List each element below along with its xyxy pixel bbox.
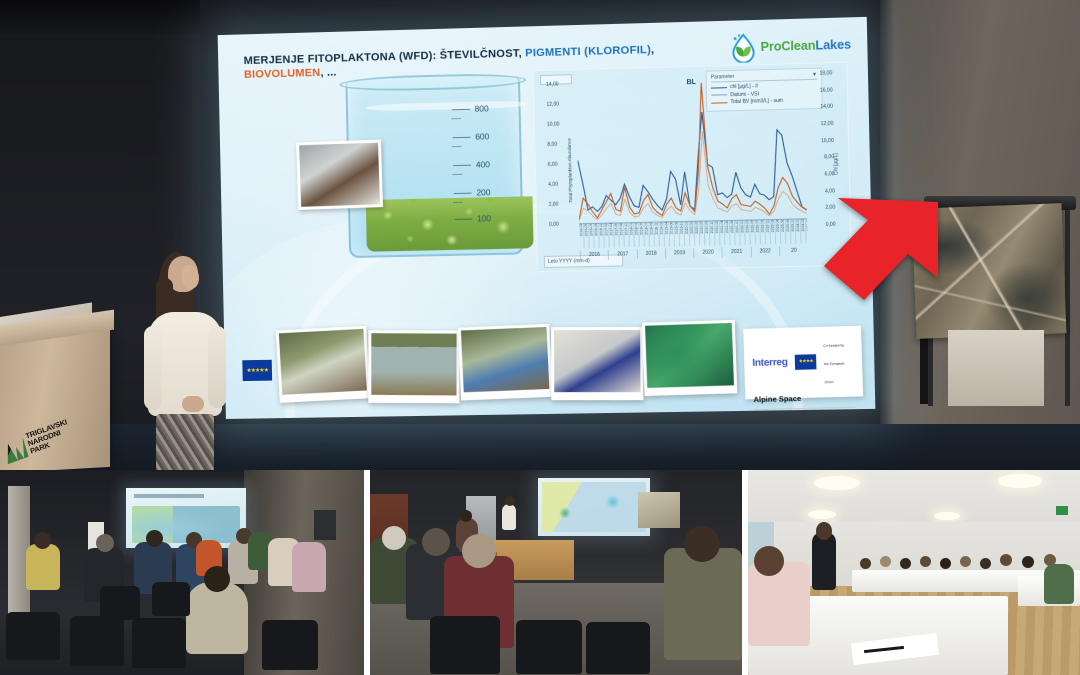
exit-sign-icon — [1056, 506, 1068, 515]
filter-icon[interactable]: ▼ — [812, 72, 817, 78]
ceiling-lamp — [934, 512, 960, 520]
foreground-attendee-head — [204, 566, 230, 592]
equipment-stand — [314, 510, 336, 540]
bottom-photo-audience — [0, 470, 364, 675]
y-tick: 12,00 — [546, 102, 559, 108]
logo-text-proclean: ProClean — [760, 38, 815, 54]
graduation-200: 200 — [453, 187, 490, 198]
flipchart-paper — [948, 330, 1044, 406]
attendee-head — [462, 534, 496, 568]
attendee-torso — [292, 542, 326, 592]
y-tick: 10,00 — [547, 122, 560, 128]
attendee-torso — [1044, 564, 1074, 604]
attendee-head — [920, 556, 931, 567]
chair — [586, 622, 650, 674]
presenter — [138, 256, 230, 470]
ceiling-lamp — [998, 474, 1042, 488]
x-year-group: 2019 — [665, 248, 694, 259]
procleanlakes-wordmark: ProCleanLakes — [760, 37, 851, 54]
photo-collage: MERJENJE FITOPLAKTONA (WFD): ŠTEVILČNOST… — [0, 0, 1080, 675]
y-tick: 8,00 — [547, 142, 557, 148]
attendee-torso — [26, 544, 60, 590]
attendee-head — [960, 556, 971, 567]
attendee-head — [684, 526, 720, 562]
attendee-head — [1022, 556, 1034, 568]
attendee-torso — [664, 548, 742, 660]
mountain-icon — [1, 434, 29, 464]
chair — [516, 620, 582, 674]
algae-star-3: ✳ — [483, 196, 499, 209]
interreg-top-row: Interreg ★★★★ Co-funded by the European … — [752, 333, 855, 390]
red-arrow-annotation — [790, 196, 940, 306]
x-year-group: 2017 — [608, 249, 637, 260]
x-year-group: 2022 — [750, 246, 779, 257]
triglav-national-park-logo: TRIGLAVSKI NARODNI PARK — [0, 390, 112, 470]
attendee-head — [422, 528, 450, 556]
projection-screen — [538, 478, 650, 536]
title-segment-4: BIOVOLUMEN — [244, 67, 321, 81]
strip-photo-5 — [642, 320, 737, 396]
y2-tick: 8,00 — [824, 154, 834, 160]
water-drop-leaf-icon — [730, 32, 757, 63]
presenter-head — [505, 496, 515, 506]
attendee-torso — [748, 562, 810, 646]
plaid-trousers — [156, 414, 214, 470]
cofunded-line2: the European Union — [824, 362, 845, 385]
cofunded-text: Co-funded by the European Union — [823, 333, 855, 388]
graduation-600: 600 — [452, 131, 489, 142]
flipchart-stand — [930, 196, 1076, 406]
ceiling-lamp — [814, 476, 860, 490]
y-tick: 4,00 — [548, 182, 558, 188]
chart-series-line — [577, 109, 807, 214]
eu-flag-icon: ★★★★★ — [242, 360, 272, 381]
interreg-wordmark: Interreg — [752, 356, 788, 368]
flipchart-leg-right — [1065, 206, 1070, 406]
face — [182, 265, 199, 289]
chart-x-year-groups: 201620172018201920202021202220 — [580, 245, 808, 260]
bottom-photo-row — [0, 470, 1080, 675]
chart-series-svg — [576, 78, 807, 224]
chair — [6, 612, 60, 660]
left-arm — [144, 326, 162, 410]
bottom-photo-meeting-room — [748, 470, 1080, 675]
attendee-head — [880, 556, 891, 567]
lab-photo-inset — [296, 140, 383, 210]
y-tick: 0,00 — [549, 222, 559, 228]
ceiling-lamp — [808, 510, 836, 519]
cofunded-line1: Co-funded by — [823, 343, 844, 348]
presenter-torso — [812, 532, 836, 590]
y2-tick: 4,00 — [825, 188, 835, 194]
chart-plot-area — [576, 78, 807, 224]
y-tick: 2,00 — [549, 202, 559, 208]
chair — [132, 618, 186, 668]
chart-x-axis: 2016-032016-052016-072016-092016-112017-… — [579, 218, 807, 248]
strip-photo-4 — [551, 327, 644, 400]
attendee-head — [860, 558, 871, 569]
chair — [70, 616, 124, 666]
x-year-group: 2020 — [693, 247, 722, 258]
y2-tick: 6,00 — [825, 171, 835, 177]
interreg-programme: Alpine Space — [753, 393, 855, 405]
y2-tick: 12,00 — [821, 121, 834, 127]
podium-logo-text: TRIGLAVSKI NARODNI PARK — [25, 418, 73, 456]
attendee-head — [980, 558, 991, 569]
interreg-logo-box: Interreg ★★★★ Co-funded by the European … — [743, 326, 863, 400]
projected-slide: MERJENJE FITOPLAKTONA (WFD): ŠTEVILČNOST… — [218, 17, 876, 419]
title-segment-3: , — [651, 44, 655, 56]
foreground-attendee — [186, 582, 248, 654]
attendee-head — [146, 530, 163, 547]
strip-photo-3 — [458, 324, 553, 401]
eu-flag-icon-interreg: ★★★★ — [795, 354, 817, 370]
strip-photo-2 — [368, 330, 459, 403]
algae-layer: ✳ ✳ ✳ — [366, 196, 534, 251]
podium: TRIGLAVSKI NARODNI PARK — [0, 327, 110, 470]
y2-tick: 16,00 — [820, 87, 833, 93]
y2-tick: 10,00 — [821, 138, 834, 144]
strip-photo-1 — [276, 326, 371, 403]
chair — [262, 620, 318, 670]
title-segment-1: MERJENJE FITOPLAKTONA (WFD): ŠTEVILČNOST… — [244, 47, 526, 67]
x-year-group: 2018 — [636, 248, 665, 259]
chart-y-axis-label: Total Phytoplankton Abundance — [567, 138, 573, 203]
hands-with-clicker — [182, 396, 204, 412]
attendee-head — [34, 532, 51, 549]
chair — [100, 586, 140, 620]
top-photo-lecture-room: MERJENJE FITOPLAKTONA (WFD): ŠTEVILČNOST… — [0, 0, 1080, 470]
x-year-group: 2021 — [722, 247, 751, 258]
y-tick: 14,00 — [546, 82, 559, 88]
bottom-photo-participants — [370, 470, 742, 675]
flipchart-with-map — [638, 492, 680, 528]
y2-tick: 18,00 — [819, 70, 832, 76]
algae-star-1: ✳ — [405, 196, 421, 209]
graduation-400: 400 — [453, 159, 490, 170]
attendee-head — [382, 526, 406, 550]
presenter-torso — [502, 504, 516, 530]
attendee-head — [940, 558, 951, 569]
chair — [430, 616, 500, 674]
logo-text-lakes: Lakes — [815, 37, 851, 52]
attendee-head — [754, 546, 784, 576]
y2-tick: 14,00 — [820, 104, 833, 110]
attendee-head — [96, 534, 114, 552]
presenter-head — [816, 522, 832, 540]
chair — [152, 582, 190, 616]
right-arm — [208, 326, 226, 408]
x-year-group: 2016 — [580, 250, 609, 261]
water-surface — [366, 100, 529, 111]
attendee-head — [460, 510, 472, 522]
attendee-head — [1000, 554, 1012, 566]
title-segment-2: PIGMENTI (KLOROFIL) — [525, 44, 651, 59]
graduation-800: 800 — [452, 103, 489, 114]
graduation-100: 100 — [454, 213, 491, 224]
procleanlakes-logo: ProCleanLakes — [730, 29, 851, 63]
attendee-head — [900, 558, 911, 569]
y-tick: 6,00 — [548, 162, 558, 168]
